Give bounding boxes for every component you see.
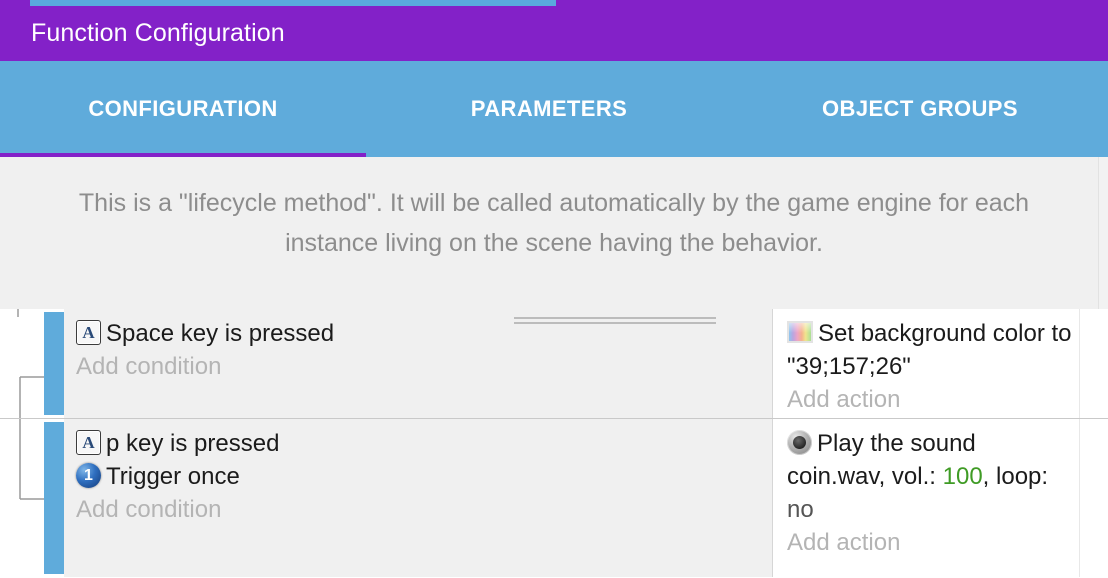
events-sheet: Space key is pressed Add condition Set b… xyxy=(0,309,1108,578)
page-title: Function Configuration xyxy=(0,21,285,46)
action-text-mid: , loop: xyxy=(983,463,1048,490)
event-conditions-area[interactable]: Space key is pressed Add condition xyxy=(64,309,772,418)
sound-speaker-icon xyxy=(787,430,812,455)
event-selection-ribbon[interactable] xyxy=(44,422,64,574)
add-action-button[interactable]: Add action xyxy=(787,526,1080,559)
condition-text: p key is pressed xyxy=(106,430,279,457)
actions-scrollbar-track[interactable] xyxy=(1079,419,1108,577)
tab-object-groups-label: OBJECT GROUPS xyxy=(822,96,1018,122)
tab-configuration-label: CONFIGURATION xyxy=(88,96,277,122)
actions-scrollbar-track[interactable] xyxy=(1079,309,1108,418)
action-item[interactable]: Play the sound coin.wav, vol.: 100, loop… xyxy=(787,427,1080,526)
event-actions-area[interactable]: Play the sound coin.wav, vol.: 100, loop… xyxy=(772,419,1080,577)
add-condition-button[interactable]: Add condition xyxy=(76,493,772,526)
event-conditions-area[interactable]: p key is pressed Trigger once Add condit… xyxy=(64,419,772,577)
add-condition-button[interactable]: Add condition xyxy=(76,350,772,383)
condition-item[interactable]: Trigger once xyxy=(76,460,772,493)
event-row[interactable]: p key is pressed Trigger once Add condit… xyxy=(0,419,1108,577)
add-action-button[interactable]: Add action xyxy=(787,383,1080,416)
color-swatch-icon xyxy=(787,321,813,343)
condition-text: Trigger once xyxy=(106,463,240,490)
description-scrollbar-track[interactable] xyxy=(1098,157,1108,309)
action-volume-value: 100 xyxy=(943,463,983,490)
condition-text: Space key is pressed xyxy=(106,320,334,347)
dialog-title-bar: Function Configuration xyxy=(0,6,1108,61)
tab-bar: CONFIGURATION PARAMETERS OBJECT GROUPS xyxy=(0,61,1108,157)
tab-configuration[interactable]: CONFIGURATION xyxy=(0,61,366,157)
column-drag-handle[interactable] xyxy=(514,317,716,324)
tab-parameters-label: PARAMETERS xyxy=(471,96,627,122)
event-row[interactable]: Space key is pressed Add condition Set b… xyxy=(0,309,1108,419)
tab-parameters[interactable]: PARAMETERS xyxy=(366,61,732,157)
keyboard-key-icon xyxy=(76,320,101,345)
lifecycle-description-panel: This is a "lifecycle method". It will be… xyxy=(0,157,1108,309)
condition-item[interactable]: p key is pressed xyxy=(76,427,772,460)
event-actions-area[interactable]: Set background color to "39;157;26" Add … xyxy=(772,309,1080,418)
function-configuration-dialog: Function Configuration CONFIGURATION PAR… xyxy=(0,0,1108,578)
tab-object-groups[interactable]: OBJECT GROUPS xyxy=(732,61,1108,157)
action-loop-value: no xyxy=(787,496,814,523)
trigger-once-icon xyxy=(76,463,101,488)
event-selection-ribbon[interactable] xyxy=(44,312,64,415)
action-text: Set background color to "39;157;26" xyxy=(787,320,1072,380)
action-item[interactable]: Set background color to "39;157;26" xyxy=(787,317,1080,383)
lifecycle-description-text: This is a "lifecycle method". It will be… xyxy=(49,157,1059,263)
keyboard-key-icon xyxy=(76,430,101,455)
